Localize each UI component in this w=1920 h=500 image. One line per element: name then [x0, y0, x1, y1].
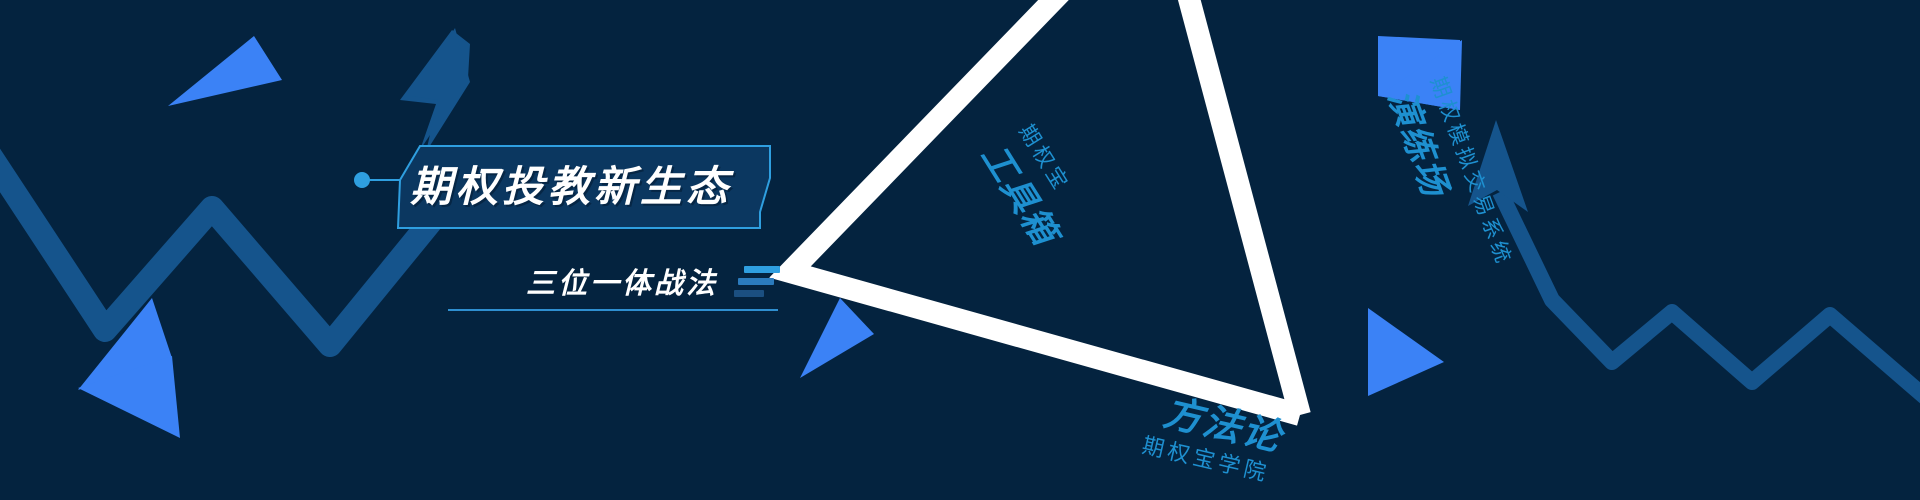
bars-icon-line-3: [734, 290, 764, 297]
bars-icon-line-2: [738, 278, 774, 285]
triangle-right-edge: [1160, 0, 1300, 415]
bars-icon-line-1: [744, 266, 780, 273]
subtitle: 三位一体战法: [526, 260, 718, 302]
bars-icon: [734, 266, 780, 300]
subheadline-block: 三位一体战法: [440, 258, 780, 320]
headline-block: 期权投教新生态: [358, 142, 778, 234]
triangle-graphic: [0, 0, 1920, 500]
page-title: 期权投教新生态: [410, 156, 760, 218]
promo-banner: 期权投教新生态 三位一体战法 期权宝 工具箱 期权模拟交易系统 演练场 方法论 …: [0, 0, 1920, 500]
